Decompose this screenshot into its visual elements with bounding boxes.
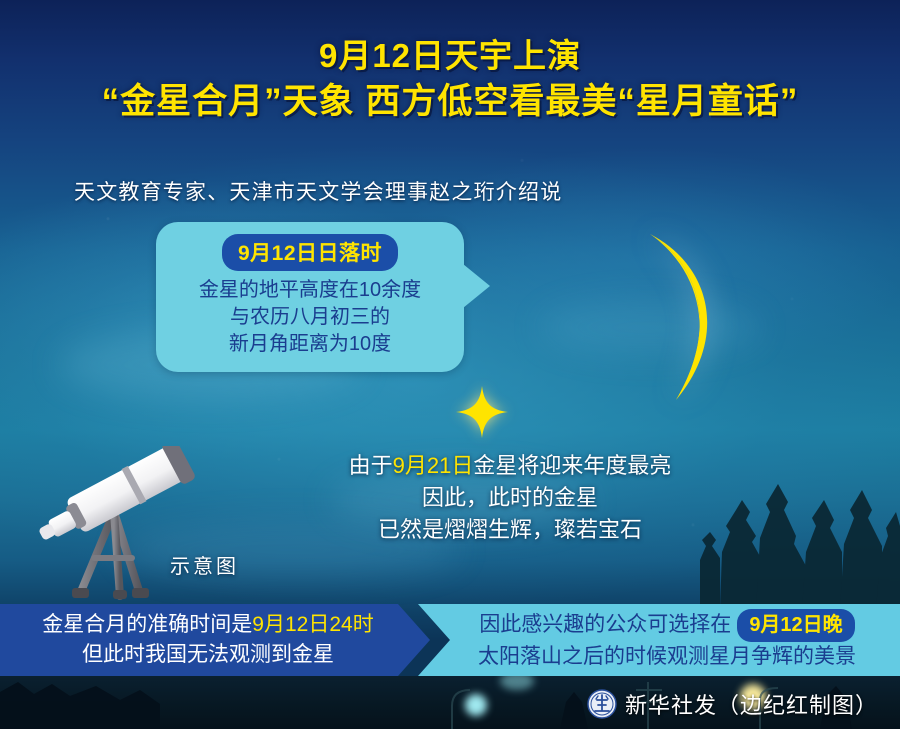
bottom-right-line-1: 因此感兴趣的公众可选择在9月12日晚: [479, 609, 854, 642]
bottom-bar-left: 金星合月的准确时间是9月12日24时 但此时我国无法观测到金星: [0, 604, 430, 676]
mid-line-1-prefix: 由于: [349, 453, 393, 478]
bubble-line-3: 新月角距离为10度: [166, 331, 454, 358]
bottom-left-line-1-prefix: 金星合月的准确时间是: [42, 613, 252, 636]
telescope-illustration: [28, 446, 278, 601]
bottom-bar-right: 因此感兴趣的公众可选择在9月12日晚 太阳落山之后的时候观测星月争辉的美景: [418, 604, 900, 676]
tree-silhouette-group: [690, 440, 900, 610]
xinhua-logo-icon: [587, 689, 617, 719]
bottom-right-line-1-prefix: 因此感兴趣的公众可选择在: [479, 610, 731, 640]
mid-line-3: 已然是熠熠生辉，璨若宝石: [300, 514, 720, 546]
bubble-date-badge: 9月12日日落时: [222, 234, 398, 271]
credit-text: 新华社发（边纪红制图）: [625, 688, 878, 720]
bubble-line-1: 金星的地平高度在10余度: [166, 277, 454, 304]
venus-sparkle-icon: [455, 385, 509, 439]
bottom-left-line-2: 但此时我国无法观测到金星: [82, 640, 334, 670]
mid-line-1: 由于9月21日金星将迎来年度最亮: [300, 450, 720, 482]
bottom-left-line-1: 金星合月的准确时间是9月12日24时: [42, 610, 373, 640]
headline-line-1: 9月12日天宇上演: [0, 36, 900, 76]
mid-line-1-highlight: 9月21日: [393, 453, 474, 478]
bottom-right-line-2: 太阳落山之后的时候观测星月争辉的美景: [478, 642, 856, 672]
telescope-label: 示意图: [170, 550, 239, 579]
speech-bubble-container: 9月12日日落时 金星的地平高度在10余度 与农历八月初三的 新月角距离为10度: [156, 222, 464, 372]
headline-block: 9月12日天宇上演 “金星合月”天象 西方低空看最美“星月童话”: [0, 36, 900, 124]
credit-block: 新华社发（边纪红制图）: [587, 688, 878, 720]
venus-brightness-paragraph: 由于9月21日金星将迎来年度最亮 因此，此时的金星 已然是熠熠生辉，璨若宝石: [300, 450, 720, 546]
bottom-right-date-badge: 9月12日晚: [737, 609, 854, 642]
source-attribution-text: 天文教育专家、天津市天文学会理事赵之珩介绍说: [74, 176, 562, 206]
bubble-line-2: 与农历八月初三的: [166, 304, 454, 331]
speech-bubble: 9月12日日落时 金星的地平高度在10余度 与农历八月初三的 新月角距离为10度: [156, 222, 464, 372]
bottom-left-line-1-highlight: 9月12日24时: [252, 613, 373, 636]
headline-line-2: “金星合月”天象 西方低空看最美“星月童话”: [0, 80, 900, 124]
mid-line-1-suffix: 金星将迎来年度最亮: [473, 453, 671, 478]
crescent-moon-icon: [620, 230, 730, 405]
mid-line-2: 因此，此时的金星: [300, 482, 720, 514]
infographic-canvas: 示意图 9月12日天宇上演 “金星合月”天象 西方低空看最美“星月童话” 天文教…: [0, 0, 900, 729]
